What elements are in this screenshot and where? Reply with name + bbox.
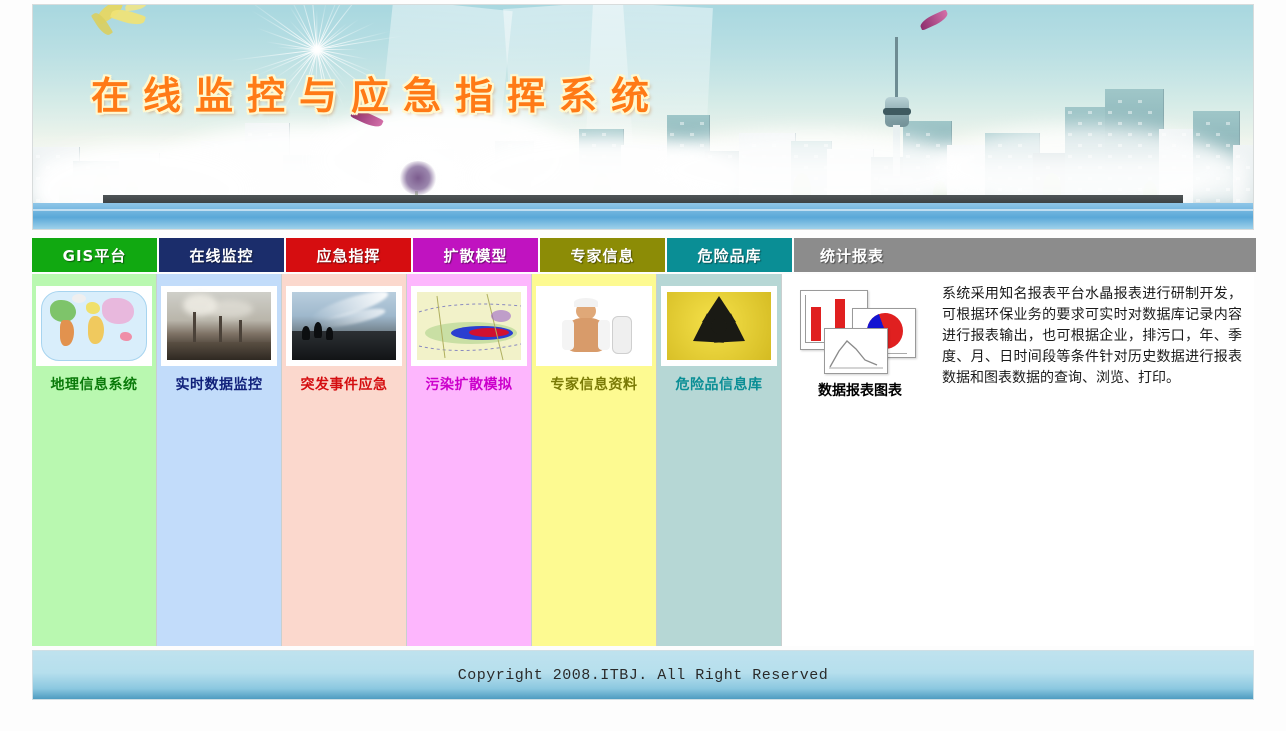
dispersion-plume-map-icon[interactable]	[411, 286, 527, 366]
column-caption: 污染扩散模拟	[407, 374, 531, 394]
fire-hose-photo-icon[interactable]	[286, 286, 402, 366]
tab-label: 应急指挥	[316, 245, 380, 266]
category-column-1[interactable]: 实时数据监控	[157, 274, 282, 646]
main-tabbar[interactable]: GIS平台在线监控应急指挥扩散模型专家信息危险品库统计报表	[32, 238, 1254, 272]
thumbnail-wrap	[407, 282, 531, 370]
tab-4[interactable]: 专家信息	[540, 238, 665, 272]
tab-label: 统计报表	[820, 245, 884, 266]
category-column-5[interactable]: 危险品信息库	[657, 274, 782, 646]
column-caption: 专家信息资料	[532, 374, 656, 394]
line-chart-window	[824, 328, 888, 374]
tab-5[interactable]: 危险品库	[667, 238, 792, 272]
tab-1[interactable]: 在线监控	[159, 238, 284, 272]
header-banner: 在线监控与应急指挥系统	[32, 4, 1254, 230]
report-caption: 数据报表图表	[782, 380, 938, 400]
thumbnail-wrap	[157, 282, 281, 370]
tab-0[interactable]: GIS平台	[32, 238, 157, 272]
tab-3[interactable]: 扩散模型	[413, 238, 538, 272]
content-area: 数据报表图表 系统采用知名报表平台水晶报表进行研制开发，可根据环保业务的要求可实…	[32, 274, 1254, 646]
app-page: 在线监控与应急指挥系统 GIS平台在线监控应急指挥扩散模型专家信息危险品库统计报…	[0, 0, 1286, 731]
column-caption: 实时数据监控	[157, 374, 281, 394]
report-charts-icon	[800, 288, 920, 374]
report-description: 系统采用知名报表平台水晶报表进行研制开发，可根据环保业务的要求可实时对数据库记录…	[942, 284, 1242, 389]
thumbnail-wrap	[282, 282, 406, 370]
category-column-3[interactable]: 污染扩散模拟	[407, 274, 532, 646]
footer-bar: Copyright 2008.ITBJ. All Right Reserved	[32, 650, 1254, 700]
report-panel: 数据报表图表 系统采用知名报表平台水晶报表进行研制开发，可根据环保业务的要求可实…	[782, 274, 1254, 646]
tab-label: 扩散模型	[443, 245, 507, 266]
tab-2[interactable]: 应急指挥	[286, 238, 411, 272]
dandelion-core	[399, 161, 437, 195]
column-caption: 危险品信息库	[657, 374, 781, 394]
column-caption: 突发事件应急	[282, 374, 406, 394]
tab-6[interactable]: 统计报表	[794, 238, 1256, 272]
tab-label: GIS平台	[63, 245, 127, 266]
category-column-0[interactable]: 地理信息系统	[32, 274, 157, 646]
line-chart-svg	[825, 329, 887, 373]
world-map-icon[interactable]	[36, 286, 152, 366]
water-icon	[33, 203, 1253, 229]
expert-person-icon[interactable]	[536, 286, 652, 366]
thumbnail-wrap	[32, 282, 156, 370]
thumbnail-wrap	[532, 282, 656, 370]
column-caption: 地理信息系统	[32, 374, 156, 394]
tab-label: 危险品库	[697, 245, 761, 266]
page-title: 在线监控与应急指挥系统	[91, 65, 663, 120]
tab-label: 专家信息	[570, 245, 634, 266]
category-column-4[interactable]: 专家信息资料	[532, 274, 657, 646]
category-column-2[interactable]: 突发事件应急	[282, 274, 407, 646]
thumbnail-wrap	[657, 282, 781, 370]
tab-label: 在线监控	[189, 245, 253, 266]
copyright-text: Copyright 2008.ITBJ. All Right Reserved	[458, 667, 829, 684]
radiation-hazard-icon[interactable]	[661, 286, 777, 366]
smokestack-photo-icon[interactable]	[161, 286, 277, 366]
